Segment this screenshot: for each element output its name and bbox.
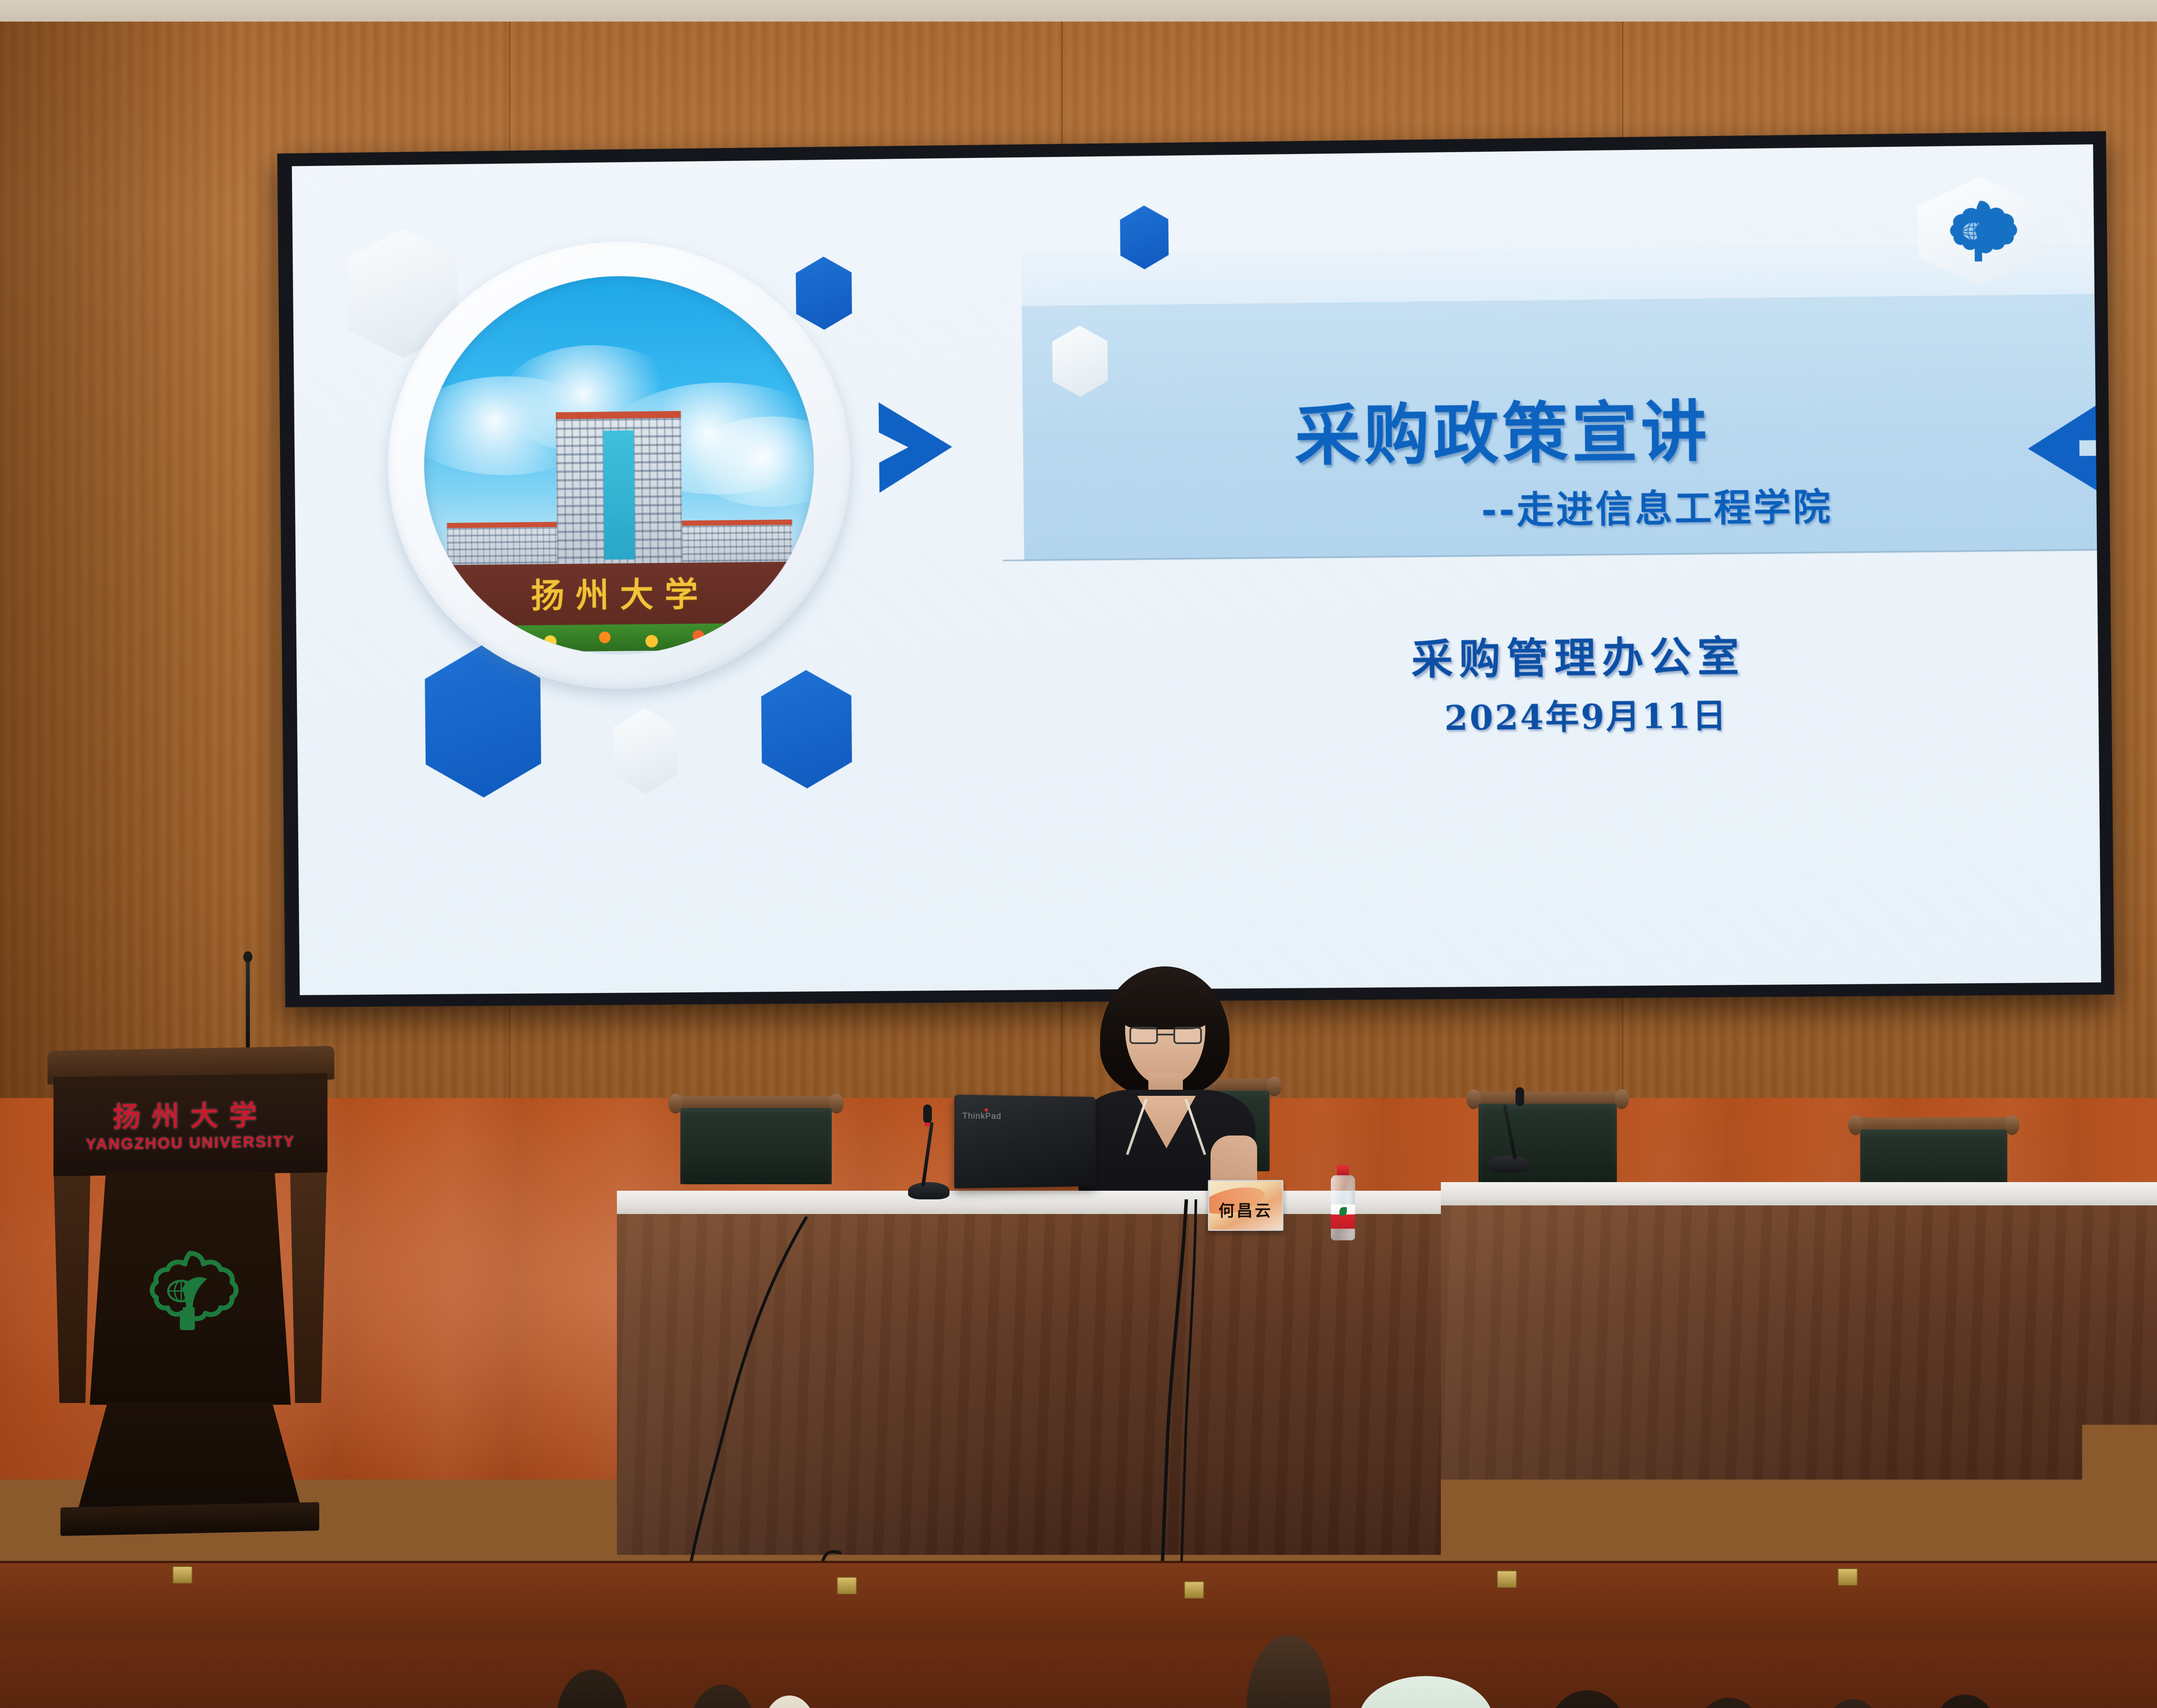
floor-outlet: [1838, 1568, 1858, 1585]
chevron-right-icon: [874, 402, 953, 493]
bottle-leaf-icon: [1339, 1207, 1347, 1216]
hall-floor: [0, 1639, 2157, 1708]
lecture-hall-scene: 扬州大学: [0, 0, 2157, 1708]
laptop[interactable]: ThinkPad: [954, 1095, 1096, 1188]
campus-photo: 扬州大学: [422, 274, 816, 656]
presentation-slide: 扬州大学: [292, 145, 2101, 995]
yangzhou-university-tree-emblem-icon: [136, 1247, 244, 1333]
table-microphone-head: [923, 1104, 932, 1123]
slide-subtitle: --走进信息工程学院: [1481, 477, 1833, 534]
glasses-lens-left: [1129, 1027, 1158, 1044]
chair: [671, 1096, 841, 1184]
water-bottle: [1331, 1165, 1355, 1240]
lectern-side-right: [290, 1161, 327, 1403]
table-microphone-head: [1516, 1087, 1524, 1106]
table-microphone-base: [908, 1182, 950, 1199]
hexagon-decoration-bottom-mid: [613, 708, 678, 794]
table-top-surface: [617, 1191, 1441, 1216]
table-microphone-led: [924, 1123, 930, 1126]
bottle-cap: [1337, 1165, 1349, 1176]
chair-back: [680, 1108, 832, 1184]
conference-table-right: [1441, 1182, 2157, 1523]
lectern-university-name-en: YANGZHOU UNIVERSITY: [53, 1132, 327, 1154]
laptop-indicator-dot: [984, 1108, 988, 1112]
led-screen: 扬州大学: [277, 131, 2115, 1007]
presenter-glasses: [1129, 1027, 1202, 1044]
table-highlight: [1441, 1205, 2157, 1546]
podium-microphone: [246, 958, 250, 1048]
yangzhou-university-emblem-icon: [1938, 196, 2022, 266]
podium-microphone-tip: [243, 951, 252, 963]
glasses-bridge: [1158, 1034, 1173, 1035]
lectern-emblem: [136, 1247, 244, 1333]
lectern-front-panel: 扬州大学 YANGZHOU UNIVERSITY: [53, 1073, 327, 1176]
presenter-collar-trim: [1125, 1095, 1207, 1160]
cable: [638, 1217, 820, 1588]
hexagon-decoration-bottom-right: [761, 670, 852, 789]
campus-photo-frame: 扬州大学: [386, 239, 852, 691]
floor-outlet: [1184, 1581, 1204, 1598]
hexagon-decoration-top-mid: [796, 256, 852, 330]
slide-title: 采购政策宣讲: [1294, 378, 1711, 478]
campus-flower-bed: [426, 623, 816, 653]
table-top-surface: [1441, 1182, 2157, 1207]
table-microphone-base: [1488, 1155, 1530, 1173]
stage-riser: [0, 1561, 2157, 1643]
floor-outlet: [837, 1577, 857, 1594]
lectern-base: [75, 1402, 304, 1519]
slide-date: 2024年9月11日: [1444, 689, 1728, 740]
campus-wall-text: 扬州大学: [425, 566, 815, 618]
floor-outlet: [173, 1566, 192, 1583]
slide-organization: 采购管理办公室: [1411, 623, 1745, 686]
lectern-university-name-cn: 扬州大学: [53, 1092, 327, 1136]
lectern-side-left: [53, 1161, 91, 1403]
floor-outlet: [1497, 1570, 1517, 1588]
lectern: 扬州大学 YANGZHOU UNIVERSITY: [35, 1044, 345, 1544]
chevron-left-icon: [2028, 405, 2101, 492]
laptop-brand-label: ThinkPad: [962, 1111, 1001, 1121]
glasses-lens-right: [1173, 1027, 1202, 1044]
lectern-foot: [60, 1502, 319, 1536]
campus-main-tower: [556, 411, 682, 567]
